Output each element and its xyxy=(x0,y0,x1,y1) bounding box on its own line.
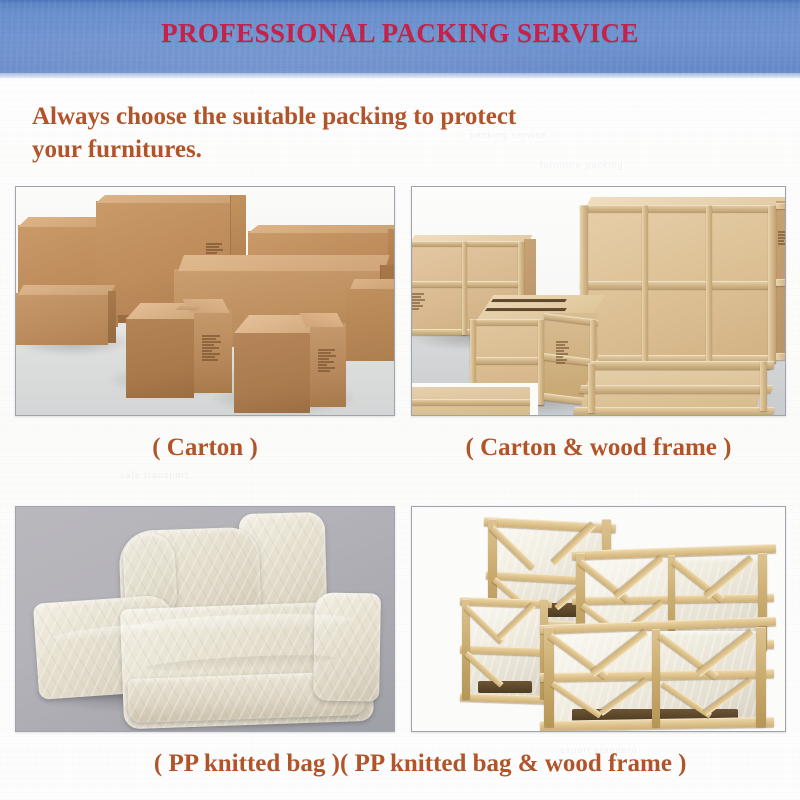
caption-pp-knitted-bag: ( PP knitted bag ) xyxy=(10,750,340,778)
carton-scene xyxy=(16,187,394,415)
subtitle: Always choose the suitable packing to pr… xyxy=(32,100,752,166)
carton-flat-front-left xyxy=(16,285,116,345)
carton-cube-front-center xyxy=(126,303,232,398)
framed-carton-large xyxy=(580,197,786,367)
pp-bag-wood-frame-scene xyxy=(412,507,785,731)
subtitle-line-1: Always choose the suitable packing to pr… xyxy=(32,100,752,133)
caption-carton: ( Carton ) xyxy=(15,434,395,462)
wrapped-arm-right xyxy=(313,592,381,701)
crate-front-left xyxy=(460,597,550,703)
carton-right-edge xyxy=(346,279,395,361)
carton-cube-front-right xyxy=(234,315,346,413)
photo-pp-bag-wood-frame[interactable] xyxy=(411,506,786,732)
watermark-text: safe transport xyxy=(120,470,189,480)
wood-frame-flat-pallet xyxy=(574,361,786,416)
header-banner: PROFESSIONAL PACKING SERVICE xyxy=(0,0,800,78)
subtitle-line-2: your furnitures. xyxy=(32,133,752,166)
photo-carton[interactable] xyxy=(15,186,395,416)
pp-bag-scene xyxy=(16,507,394,731)
photo-carton-wood-frame[interactable] xyxy=(411,186,786,416)
page-title: PROFESSIONAL PACKING SERVICE xyxy=(0,18,800,49)
carton-wood-frame-scene xyxy=(412,187,785,415)
caption-carton-wood-frame: ( Carton & wood frame ) xyxy=(411,434,786,462)
photo-pp-knitted-bag[interactable] xyxy=(15,506,395,732)
packing-service-poster: packing service furniture packing safe t… xyxy=(0,0,800,800)
caption-pp-knitted-bag-wood-frame: ( PP knitted bag & wood frame ) xyxy=(340,750,800,778)
crate-front-right xyxy=(540,625,772,731)
